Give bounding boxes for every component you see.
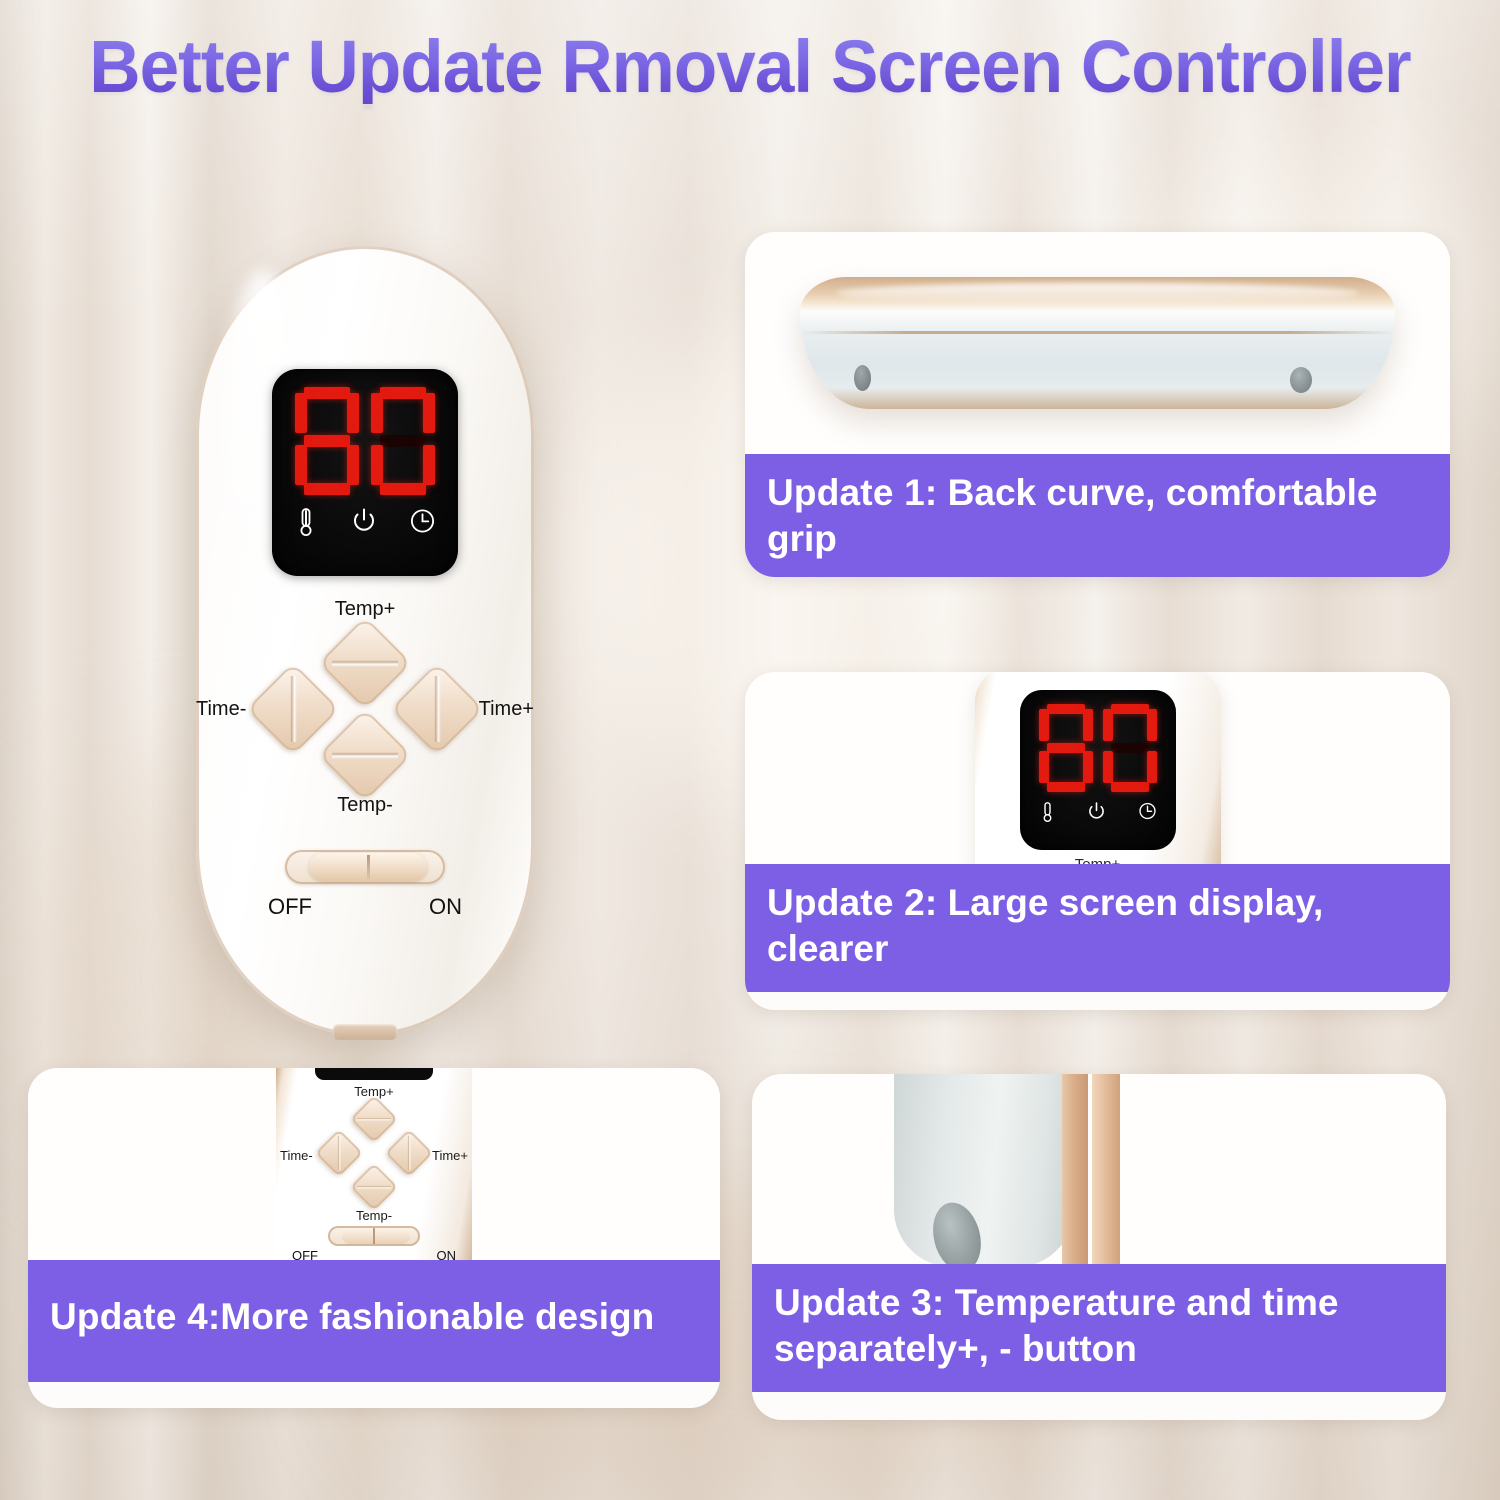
- temp-up-label: Temp+: [335, 598, 396, 621]
- button-pad: Temp+ Time- Time+ Temp-: [196, 598, 534, 848]
- thermometer-icon: [1039, 801, 1056, 828]
- led-digit-ones: [371, 387, 435, 495]
- card-update-3-caption: Update 3: Temperature and time separatel…: [752, 1264, 1446, 1392]
- time-up-label: Time+: [479, 698, 534, 721]
- device-edge-macro: [752, 1074, 1446, 1264]
- led-screen-closeup: Temp+: [745, 672, 1450, 864]
- card-update-3[interactable]: Update 3: Temperature and time separatel…: [752, 1074, 1446, 1420]
- infographic-canvas: Better Update Rmoval Screen Controller: [0, 0, 1500, 1500]
- time-down-label: Time-: [196, 698, 246, 721]
- device-back-curve-profile: [745, 232, 1450, 454]
- led-display-screen: [272, 369, 458, 576]
- control-panel-closeup: Temp+ Time- Time+ Temp- OFF ON: [28, 1068, 720, 1260]
- temp-up-button[interactable]: [318, 616, 411, 709]
- screen-status-icons: [294, 507, 436, 537]
- led-digit-tens: [1039, 704, 1093, 792]
- power-icon: [351, 507, 377, 537]
- clock-icon: [409, 507, 436, 537]
- clock-icon: [1138, 801, 1157, 828]
- power-on-label: ON: [429, 894, 462, 920]
- card-update-4-photo: Temp+ Time- Time+ Temp- OFF ON: [28, 1068, 720, 1260]
- power-switch[interactable]: [285, 850, 445, 884]
- card-update-3-photo: [752, 1074, 1446, 1264]
- card-update-2[interactable]: Temp+ Update 2: Large screen display, cl…: [745, 672, 1450, 1010]
- card-update-3-lead: Update 3:: [774, 1282, 944, 1323]
- card-update-1-lead: Update 1:: [767, 472, 937, 513]
- card-update-4-rest: More fashionable design: [220, 1296, 654, 1337]
- temp-down-button[interactable]: [318, 708, 411, 801]
- card-update-4-caption: Update 4:More fashionable design: [28, 1260, 720, 1382]
- time-up-button[interactable]: [390, 662, 483, 755]
- led-digit-ones: [1103, 704, 1157, 792]
- led-digits: [295, 387, 435, 495]
- led-digit-tens: [295, 387, 359, 495]
- page-title: Better Update Rmoval Screen Controller: [30, 30, 1470, 104]
- power-icon: [1087, 801, 1106, 828]
- card-update-1-photo: [745, 232, 1450, 454]
- card-update-2-photo: Temp+: [745, 672, 1450, 864]
- card-update-2-caption: Update 2: Large screen display, clearer: [745, 864, 1450, 992]
- power-switch-notch: [367, 855, 370, 879]
- power-off-label: OFF: [268, 894, 312, 920]
- time-down-button[interactable]: [246, 662, 339, 755]
- device-cable-port: [333, 1024, 397, 1040]
- power-switch-thumb[interactable]: [309, 853, 427, 881]
- hero-device-controller: Temp+ Time- Time+ Temp- OFF ON: [196, 246, 534, 1036]
- card-update-4-lead: Update 4:: [50, 1296, 220, 1337]
- thermometer-icon: [294, 507, 318, 537]
- card-update-1-caption: Update 1: Back curve, comfortable grip: [745, 454, 1450, 577]
- temp-down-label: Temp-: [337, 794, 393, 817]
- card-update-4[interactable]: Temp+ Time- Time+ Temp- OFF ON: [28, 1068, 720, 1408]
- card-update-2-cut-label: Temp+: [1075, 856, 1120, 864]
- card-update-2-lead: Update 2:: [767, 882, 937, 923]
- card-update-1[interactable]: Update 1: Back curve, comfortable grip: [745, 232, 1450, 577]
